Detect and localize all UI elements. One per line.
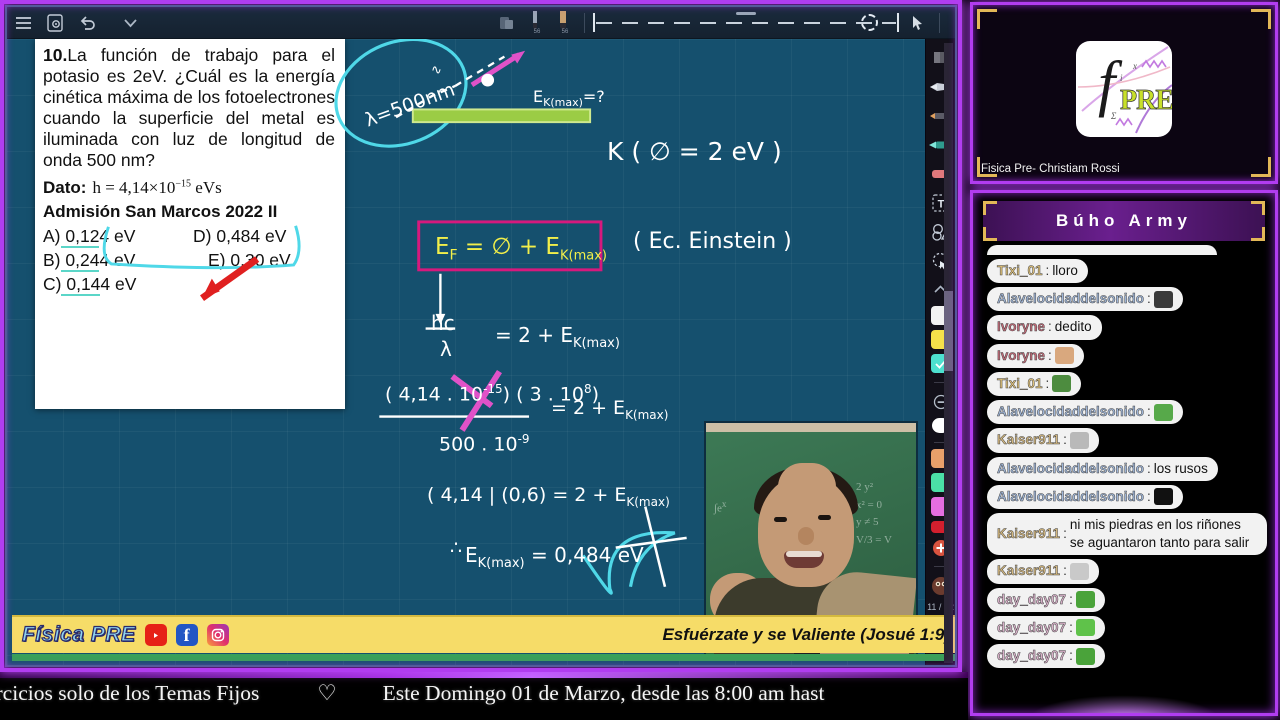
chat-corner-br	[1251, 227, 1265, 241]
stream-video: 56 56	[5, 5, 957, 667]
chat-message-text: dedito	[1055, 318, 1092, 336]
hw-step1-numerator: hc	[431, 311, 455, 335]
chat-separator: :	[1063, 525, 1067, 543]
chat-message-row: day_day07:	[981, 640, 1267, 668]
chat-message-partial	[987, 245, 1217, 255]
chat-emote-icon	[1055, 347, 1074, 364]
option-a-key: A)	[43, 226, 61, 246]
chat-panel: Búho Army Tixi_01: lloroAlavelocidaddels…	[970, 190, 1278, 716]
logo-letter-f: f	[1098, 53, 1115, 115]
chat-emote-icon	[1070, 432, 1089, 449]
chat-username: day_day07	[997, 591, 1066, 609]
planck-exponent: −15	[175, 178, 191, 189]
question-text: La función de trabajo para el potasio es…	[43, 45, 335, 170]
brand-label: Física PRE	[22, 623, 136, 647]
chat-message[interactable]: Tixi_01: lloro	[987, 259, 1088, 283]
bottom-ticker: jercicios solo de los Temas Fijos♡Este D…	[0, 672, 968, 720]
slider-right-cap	[897, 13, 899, 32]
chat-message[interactable]: day_day07:	[987, 588, 1105, 612]
chat-emote-icon	[1154, 291, 1173, 308]
hw-s2-exp: -15	[483, 382, 503, 396]
chat-message[interactable]: Kaiser911:	[987, 428, 1099, 452]
chat-username: day_day07	[997, 647, 1066, 665]
option-b-value: 0,244 eV	[65, 250, 135, 270]
hw-final-sub: K(max)	[478, 556, 525, 571]
metal-slab	[413, 109, 590, 122]
chat-message-row: Ivoryne:	[981, 340, 1267, 368]
thickness-value-1: 56	[534, 29, 541, 35]
chat-username: Alavelocidaddelsonido	[997, 488, 1144, 506]
hw-s2-a: ( 4,14 . 10	[385, 383, 483, 405]
hw-ek-e: E	[533, 87, 543, 106]
option-d-key: D)	[193, 226, 211, 246]
option-d[interactable]: D) 0,484 eV	[193, 225, 333, 249]
chevron-down-icon[interactable]	[117, 10, 143, 36]
undo-icon[interactable]	[74, 10, 100, 36]
screen-root: 56 56	[0, 0, 1280, 720]
hw-final-answer: EK(max) = 0,484 eV	[465, 543, 644, 571]
corner-ornament-tr	[1251, 9, 1271, 29]
hw-therefore: ∴	[450, 537, 462, 559]
chat-message[interactable]: Alavelocidaddelsonido:	[987, 485, 1183, 509]
chat-emote-icon	[1154, 488, 1173, 505]
chat-username: Kaiser911	[997, 525, 1060, 543]
youtube-icon[interactable]	[145, 624, 167, 646]
chat-message[interactable]: Kaiser911:	[987, 559, 1099, 583]
hw-s1-rhs: = 2 + E	[495, 323, 573, 347]
question-source: Admisión San Marcos 2022 II	[43, 202, 335, 222]
hw-s3-sub: K(max)	[626, 495, 669, 509]
chat-separator: :	[1063, 431, 1067, 449]
data-line: Dato: h = 4,14×10−15 eVs	[43, 178, 335, 198]
question-number: 10.	[43, 45, 67, 65]
chat-separator: :	[1147, 460, 1151, 478]
chat-separator: :	[1046, 262, 1050, 280]
planck-units: eVs	[195, 178, 221, 197]
hw-ek-tail: =?	[583, 87, 605, 106]
hw-s2-rhs: = 2 + E	[551, 397, 625, 419]
chat-emote-icon	[1052, 375, 1071, 392]
brace-icon	[948, 10, 957, 36]
instructor-teeth	[786, 551, 822, 557]
option-b[interactable]: B) 0,244 eV	[43, 249, 193, 273]
slider-nub	[736, 12, 756, 15]
ticker-text: jercicios solo de los Temas Fijos♡Este D…	[0, 681, 825, 706]
chat-message-row: Kaiser911: ni mis piedras en los riñones…	[981, 513, 1267, 555]
chat-separator: :	[1069, 647, 1073, 665]
whiteboard-canvas[interactable]: 10.La función de trabajo para el potasio…	[7, 39, 925, 665]
chat-message-list[interactable]: Tixi_01: lloroAlavelocidaddelsonido:Ivor…	[973, 245, 1275, 695]
pen-thick-icon[interactable]: 56	[556, 10, 574, 36]
slider-knob[interactable]	[861, 14, 878, 31]
chat-message[interactable]: Ivoryne: dedito	[987, 315, 1102, 339]
scrollbar-thumb[interactable]	[944, 291, 953, 371]
chat-emote-icon	[1076, 619, 1095, 636]
chat-message-row: day_day07:	[981, 584, 1267, 612]
option-d-value: 0,484 eV	[216, 226, 286, 246]
green-strip	[12, 654, 957, 661]
chat-message[interactable]: Alavelocidaddelsonido:	[987, 287, 1183, 311]
magenta-arrow-shaft	[472, 55, 519, 85]
instructor-eye-right	[818, 515, 831, 520]
option-b-key: B)	[43, 250, 61, 270]
ticker-part-2: Este Domingo 01 de Marzo, desde las 8:00…	[383, 681, 825, 705]
hw-einstein-equation: EF = ∅ + EK(max)	[435, 234, 607, 264]
chat-message-row: Alavelocidaddelsonido:	[981, 283, 1267, 311]
thickness-slider[interactable]	[596, 10, 896, 36]
chat-separator: :	[1046, 375, 1050, 393]
chat-message[interactable]: Alavelocidaddelsonido:	[987, 400, 1183, 424]
chat-message-text: ni mis piedras en los riñones se aguanta…	[1070, 516, 1257, 552]
chat-separator: :	[1147, 290, 1151, 308]
option-e-key: E)	[208, 250, 226, 270]
chat-username: Tixi_01	[997, 375, 1043, 393]
chat-username: Kaiser911	[997, 562, 1060, 580]
ticker-top-bar	[0, 672, 968, 678]
option-a[interactable]: A) 0,124 eV	[43, 225, 193, 249]
instagram-icon[interactable]	[207, 624, 229, 646]
chat-username: Tixi_01	[997, 262, 1043, 280]
hw-s2-den-exp: -9	[518, 432, 530, 446]
chat-message-row: Tixi_01:	[981, 368, 1267, 396]
chat-bottom-glow	[1029, 695, 1219, 716]
chat-corner-tl	[983, 201, 997, 215]
hw-step2-rhs: = 2 + EK(max)	[551, 397, 668, 422]
chat-message[interactable]: day_day07:	[987, 616, 1105, 640]
option-e[interactable]: E) 0,30 eV	[193, 249, 333, 273]
option-c-key: C)	[43, 274, 61, 294]
question-body: 10.La función de trabajo para el potasio…	[43, 45, 335, 171]
hw-final-rhs: = 0,484 eV	[531, 543, 644, 567]
chat-emote-icon	[1076, 591, 1095, 608]
magenta-arrow-head	[511, 51, 525, 64]
logo-text-pre: PRE	[1120, 85, 1172, 117]
verse-text: Esfuérzate y se Valiente (Josué 1:9)	[662, 625, 950, 645]
toolbar-divider	[584, 13, 585, 33]
chat-emote-icon	[1154, 404, 1173, 421]
channel-logo: x i Σ f PRE	[1076, 41, 1172, 137]
data-label: Dato:	[43, 178, 86, 198]
hw-einstein-label: ( Ec. Einstein )	[633, 229, 792, 254]
answer-slash-1	[645, 507, 665, 587]
chat-username: Alavelocidaddelsonido	[997, 290, 1144, 308]
chat-separator: :	[1048, 347, 1052, 365]
cursor-icon[interactable]	[905, 10, 931, 36]
chat-separator: :	[1069, 591, 1073, 609]
chalk-writing-right: 2 y²x² = 0y ≠ 5V/3 = V	[856, 479, 892, 549]
slider-track	[596, 22, 896, 24]
chat-message-text: los rusos	[1154, 460, 1208, 478]
chat-message[interactable]: Alavelocidaddelsonido: los rusos	[987, 457, 1218, 481]
option-b-underline	[61, 270, 99, 272]
hw-final-e: E	[465, 543, 478, 567]
chat-message-row: day_day07:	[981, 612, 1267, 640]
chat-title-text: Búho Army	[1056, 211, 1192, 231]
option-a-value: 0,124 eV	[65, 226, 135, 246]
corner-ornament-tl	[977, 9, 997, 29]
options-row-3: C) 0,144 eV	[43, 273, 335, 297]
hw-step1-denominator: λ	[440, 337, 452, 361]
hw-step1-rhs: = 2 + EK(max)	[495, 323, 620, 351]
chat-message-row: Tixi_01: lloro	[981, 255, 1267, 283]
planck-constant-formula: h = 4,14×10−15 eVs	[92, 178, 221, 198]
corner-ornament-br	[1251, 157, 1271, 177]
svg-text:x: x	[1132, 61, 1137, 71]
planck-mult: ×10	[149, 178, 176, 197]
option-c-value: 0,144 eV	[66, 274, 136, 294]
right-column: x i Σ f PRE Fisica Pre- Christiam Rossi …	[968, 0, 1280, 720]
hw-ee-rhs: = ∅ + E	[465, 234, 560, 260]
hw-step2-denominator: 500 . 10-9	[439, 432, 530, 455]
chat-message-row: Alavelocidaddelsonido: los rusos	[981, 453, 1267, 481]
thickness-value-2: 56	[562, 29, 569, 35]
chat-message-row: Kaiser911:	[981, 555, 1267, 583]
chat-message[interactable]: Tixi_01:	[987, 372, 1081, 396]
instructor-eye-left	[774, 517, 787, 522]
hw-photon-symbol: ∿	[431, 63, 442, 78]
whiteboard-top-toolbar: 56 56	[7, 7, 955, 39]
hw-ee-sub: F	[450, 248, 458, 264]
option-e-value: 0,30 eV	[230, 250, 290, 270]
chat-emote-icon	[1070, 563, 1089, 580]
chat-emote-icon	[1076, 648, 1095, 665]
ticker-heart-icon: ♡	[317, 681, 336, 705]
ticker-part-1: jercicios solo de los Temas Fijos	[0, 681, 259, 705]
stream-scrollbar[interactable]	[944, 43, 953, 663]
electron-path-dashed	[455, 57, 504, 86]
chat-separator: :	[1063, 562, 1067, 580]
chat-username: Ivoryne	[997, 318, 1045, 336]
chat-message-row: Alavelocidaddelsonido:	[981, 396, 1267, 424]
hw-s1-rhs-sub: K(max)	[573, 336, 620, 351]
slider-left-cap	[593, 13, 595, 32]
chat-username: Alavelocidaddelsonido	[997, 460, 1144, 478]
question-card: 10.La función de trabajo para el potasio…	[35, 39, 345, 409]
option-c[interactable]: C) 0,144 eV	[43, 273, 193, 297]
option-c-underline	[61, 294, 100, 296]
hw-s2-rhs-sub: K(max)	[625, 408, 668, 422]
toolbar-divider-2	[939, 13, 940, 33]
chat-separator: :	[1048, 318, 1052, 336]
chat-username: Kaiser911	[997, 431, 1060, 449]
hw-metal-work-function: K ( ∅ = 2 eV )	[607, 137, 782, 166]
hw-s3: ( 4,14 | (0,6) = 2 + E	[427, 484, 626, 506]
thickness-preset-icon[interactable]	[494, 10, 520, 36]
hw-s2-expb: 8	[584, 382, 592, 396]
options-list: A) 0,124 eV D) 0,484 eV B) 0,244 eV E) 0…	[43, 225, 335, 297]
chat-username: Ivoryne	[997, 347, 1045, 365]
chat-message[interactable]: Kaiser911: ni mis piedras en los riñones…	[987, 513, 1267, 555]
hw-s2-den: 500 . 10	[439, 433, 518, 455]
chat-separator: :	[1147, 488, 1151, 506]
instructor-nose	[798, 527, 814, 545]
pen-thin-icon[interactable]: 56	[528, 10, 546, 36]
hw-ee-rhs-sub: K(max)	[560, 249, 607, 264]
chat-corner-tr	[1251, 201, 1265, 215]
chat-message-row: Ivoryne: dedito	[981, 311, 1267, 339]
chalk-writing-left: ∫ex	[714, 499, 726, 515]
hw-ee-e: E	[435, 234, 450, 260]
electron-dot	[482, 74, 494, 86]
options-row-2: B) 0,244 eV E) 0,30 eV	[43, 249, 335, 273]
option-a-underline	[61, 246, 99, 248]
chat-corner-bl	[983, 227, 997, 241]
chat-username: Alavelocidaddelsonido	[997, 403, 1144, 421]
document-settings-icon[interactable]	[42, 10, 68, 36]
menu-icon[interactable]	[10, 10, 36, 36]
chat-message-row: Kaiser911:	[981, 424, 1267, 452]
hw-ek-sub: K(max)	[543, 96, 583, 109]
options-row-1: A) 0,124 eV D) 0,484 eV	[43, 225, 335, 249]
chat-message-row: Alavelocidaddelsonido:	[981, 481, 1267, 509]
chat-separator: :	[1147, 403, 1151, 421]
hw-step3: ( 4,14 | (0,6) = 2 + EK(max)	[427, 484, 670, 509]
chat-title-bar: Búho Army	[983, 201, 1265, 241]
channel-name-label: Fisica Pre- Christiam Rossi	[981, 163, 1120, 175]
hw-wavelength: λ=500nm	[362, 79, 458, 132]
chat-separator: :	[1069, 619, 1073, 637]
hw-ek-question: EK(max)=?	[533, 87, 605, 109]
bottom-banner: Física PRE f Esfuérzate y se Valiente (J…	[12, 615, 957, 653]
channel-logo-card: x i Σ f PRE Fisica Pre- Christiam Rossi	[970, 2, 1278, 184]
chalkboard-frame	[706, 423, 916, 432]
chat-message[interactable]: Ivoryne:	[987, 344, 1084, 368]
chat-message[interactable]: day_day07:	[987, 644, 1105, 668]
chat-username: day_day07	[997, 619, 1066, 637]
chat-message-text: lloro	[1052, 262, 1078, 280]
planck-value: h = 4,14	[92, 178, 148, 197]
stream-panel: 56 56	[0, 0, 962, 672]
facebook-icon[interactable]: f	[176, 624, 198, 646]
